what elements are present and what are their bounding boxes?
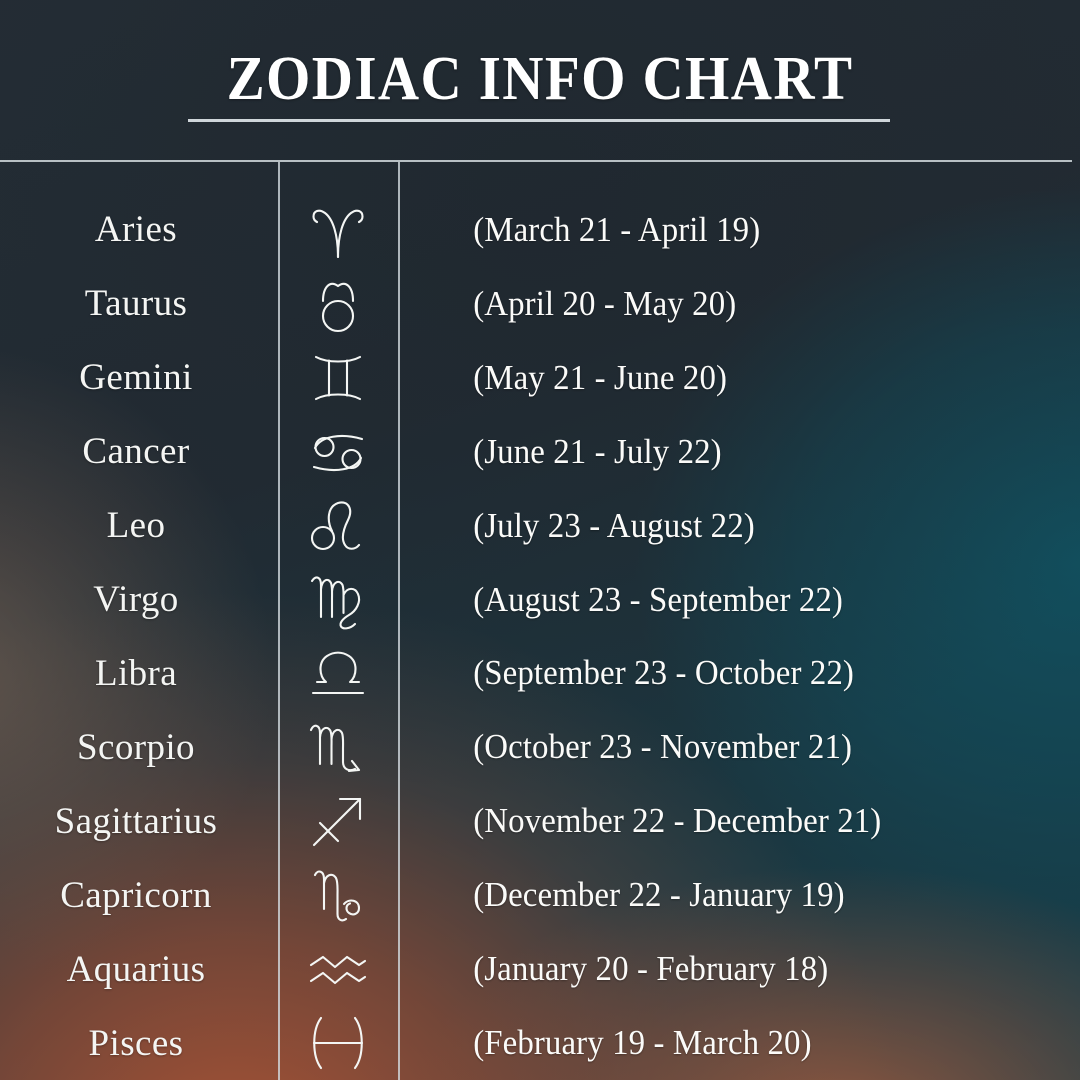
scorpio-symbol <box>278 716 398 778</box>
date-range-aquarius: (January 20 - February 18) <box>398 949 1039 989</box>
zodiac-table: Aries (March 21 - April 19) Taurus (Apri… <box>0 161 1080 1080</box>
table-row: Gemini (May 21 - June 20) <box>0 341 1080 415</box>
date-range-leo: (July 23 - August 22) <box>398 506 1039 546</box>
gemini-symbol <box>278 347 398 409</box>
sign-name-pisces: Pisces <box>0 1022 278 1065</box>
date-range-virgo: (August 23 - September 22) <box>398 580 1039 620</box>
date-range-gemini: (May 21 - June 20) <box>398 358 1039 398</box>
table-row: Cancer (June 21 - July 22) <box>0 415 1080 489</box>
aquarius-symbol <box>278 938 398 1000</box>
table-row: Scorpio (October 23 - November 21) <box>0 710 1080 784</box>
capricorn-symbol <box>278 864 398 926</box>
table-row: Libra (September 23 - October 22) <box>0 637 1080 711</box>
table-row: Sagittarius (November 22 - December 21) <box>0 784 1080 858</box>
table-row: Leo (July 23 - August 22) <box>0 489 1080 563</box>
sign-name-aquarius: Aquarius <box>0 948 278 991</box>
libra-symbol <box>278 642 398 704</box>
date-range-taurus: (April 20 - May 20) <box>398 284 1039 324</box>
title-underline-rule <box>188 119 890 122</box>
poster-header: ZODIAC INFO CHART <box>0 0 1080 161</box>
sagittarius-symbol <box>278 790 398 852</box>
cancer-symbol <box>278 421 398 483</box>
date-range-libra: (September 23 - October 22) <box>398 653 1039 693</box>
sign-name-gemini: Gemini <box>0 356 278 399</box>
sign-name-capricorn: Capricorn <box>0 874 278 917</box>
zodiac-info-chart-poster: ZODIAC INFO CHART Aries (March 21 - Apri… <box>0 0 1080 1080</box>
table-row: Taurus (April 20 - May 20) <box>0 267 1080 341</box>
sign-name-virgo: Virgo <box>0 578 278 621</box>
page-title: ZODIAC INFO CHART <box>43 44 1037 115</box>
table-row: Aquarius (January 20 - February 18) <box>0 932 1080 1006</box>
sign-name-scorpio: Scorpio <box>0 726 278 769</box>
date-range-sagittarius: (November 22 - December 21) <box>398 801 1039 841</box>
pisces-symbol <box>278 1012 398 1074</box>
date-range-capricorn: (December 22 - January 19) <box>398 875 1039 915</box>
sign-name-libra: Libra <box>0 652 278 695</box>
virgo-symbol <box>278 569 398 631</box>
sign-name-aries: Aries <box>0 208 278 251</box>
aries-symbol <box>278 199 398 261</box>
table-row: Aries (March 21 - April 19) <box>0 193 1080 267</box>
date-range-aries: (March 21 - April 19) <box>398 210 1039 250</box>
sign-name-leo: Leo <box>0 504 278 547</box>
taurus-symbol <box>278 273 398 335</box>
leo-symbol <box>278 495 398 557</box>
sign-name-sagittarius: Sagittarius <box>0 800 278 843</box>
date-range-cancer: (June 21 - July 22) <box>398 432 1039 472</box>
table-row: Capricorn (December 22 - January 19) <box>0 858 1080 932</box>
table-row: Virgo (August 23 - September 22) <box>0 563 1080 637</box>
sign-name-taurus: Taurus <box>0 282 278 325</box>
table-row: Pisces (February 19 - March 20) <box>0 1006 1080 1080</box>
sign-name-cancer: Cancer <box>0 430 278 473</box>
date-range-pisces: (February 19 - March 20) <box>398 1023 1039 1063</box>
date-range-scorpio: (October 23 - November 21) <box>398 727 1039 767</box>
